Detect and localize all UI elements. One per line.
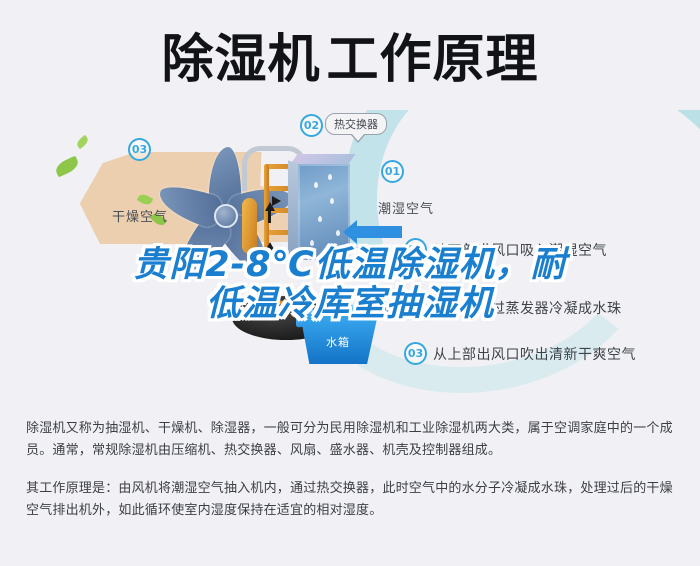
legend-badge-02: 02 xyxy=(404,296,427,319)
receiver-tank-shape xyxy=(242,198,257,254)
leaf-icon xyxy=(75,135,90,149)
diagram-badge-02: 02 xyxy=(300,114,323,137)
leaf-icon xyxy=(53,156,80,178)
infographic-page: 除湿机工作原理 03 干燥空气 xyxy=(0,0,700,566)
paragraph-principle: 其工作原理是：由风机将潮湿空气抽入机内，通过热交换器，此时空气中的水分子冷凝成水… xyxy=(26,478,674,522)
legend-text-02: 湿空气通过蒸发器冷凝成水珠 xyxy=(433,298,622,318)
legend-badge-01: 01 xyxy=(404,238,427,261)
air-intake-arrow-icon xyxy=(356,226,402,238)
page-title: 除湿机工作原理 xyxy=(0,20,700,100)
diagram-illustration: 03 干燥空气 xyxy=(0,110,700,395)
diagram-badge-01: 01 xyxy=(381,160,404,183)
legend-item-03: 03 从上部出风口吹出清新干爽空气 xyxy=(404,342,636,365)
flow-arrow-right-icon xyxy=(272,196,281,206)
humid-air-label: 潮湿空气 xyxy=(378,198,434,217)
title-text: 除湿机工作原理 xyxy=(161,34,538,86)
flow-arrow-up-icon xyxy=(265,242,275,251)
paragraph-definition: 除湿机又称为抽湿机、干燥机、除湿器，一般可分为民用除湿机和工业除湿机两大类，属于… xyxy=(26,418,674,462)
flow-arrow-stem xyxy=(268,210,271,223)
heat-exchanger-shape xyxy=(288,154,360,262)
compressor-coil-shape xyxy=(250,300,298,322)
legend-item-02: 02 湿空气通过蒸发器冷凝成水珠 xyxy=(404,296,622,319)
legend-badge-03: 03 xyxy=(404,342,427,365)
legend-item-01: 01 从下部进风口吸入潮湿空气 xyxy=(404,238,607,261)
diagram-badge-03: 03 xyxy=(128,138,151,161)
water-tank-shape: 水箱 xyxy=(300,306,394,368)
title-part-1: 除湿机 xyxy=(161,30,320,90)
flow-arrow-stem xyxy=(268,250,271,263)
dry-air-label: 干燥空气 xyxy=(112,206,168,225)
legend-text-03: 从上部出风口吹出清新干爽空气 xyxy=(433,344,636,364)
body-copy: 除湿机又称为抽湿机、干燥机、除湿器，一般可分为民用除湿机和工业除湿机两大类，属于… xyxy=(26,418,674,528)
title-part-2: 工作原理 xyxy=(327,30,539,90)
water-tank-label: 水箱 xyxy=(326,334,350,350)
legend-text-01: 从下部进风口吸入潮湿空气 xyxy=(433,240,607,260)
heat-exchanger-callout: 热交换器 xyxy=(325,113,387,135)
